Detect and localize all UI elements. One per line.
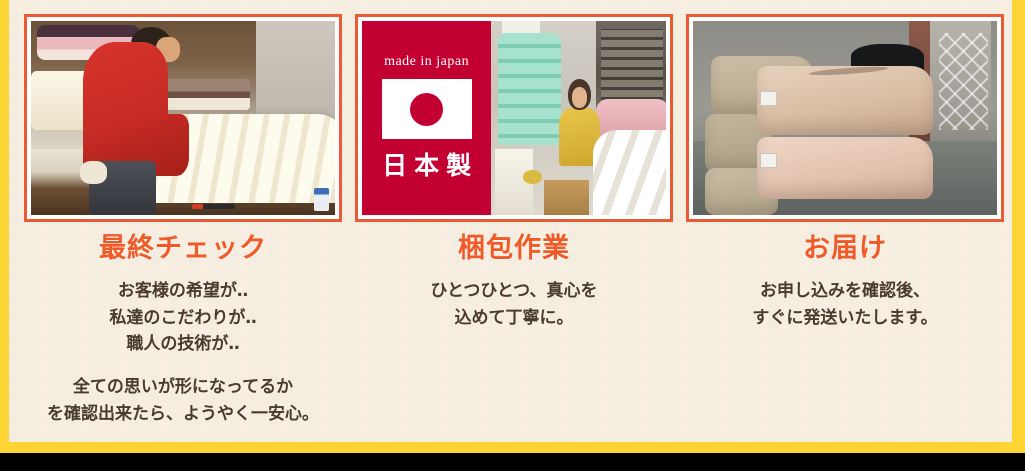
made-in-japan-badge: made in japan 日本製: [362, 21, 491, 215]
japan-flag-icon: [382, 79, 472, 139]
final-check-photo: [31, 21, 335, 215]
photo3-label-lower: [760, 153, 777, 169]
delivery-photo-frame: [686, 14, 1004, 222]
photo3-package-b: [757, 66, 933, 136]
delivery-photo: [693, 21, 997, 215]
photo3-package-c: [757, 137, 933, 199]
photo1-mid-pile: [165, 79, 250, 110]
packing-photo-frame: made in japan 日本製: [355, 14, 673, 222]
column-delivery: お届け お申し込みを確認後、 すぐに発送いたします。: [686, 232, 1004, 427]
body-final-check-2: 全ての思いが形になってるか を確認出来たら、ようやく一安心。: [24, 374, 342, 427]
photo2-white-futon: [593, 130, 666, 215]
page-root: made in japan 日本製: [0, 0, 1025, 471]
photo-row: made in japan 日本製: [24, 14, 1004, 222]
nihonsei-kanji-label: 日本製: [375, 146, 478, 182]
body-delivery: お申し込みを確認後、 すぐに発送いたします。: [686, 278, 1004, 331]
caption-row: 最終チェック お客様の希望が‥ 私達のこだわりが‥ 職人の技術が‥ 全ての思いが…: [24, 232, 1004, 427]
yellow-border-left: [0, 0, 9, 455]
column-final-check: 最終チェック お客様の希望が‥ 私達のこだわりが‥ 職人の技術が‥ 全ての思いが…: [24, 232, 342, 427]
photo2-rack-bars: [601, 29, 662, 110]
photo2-mint-futon-stack: [498, 33, 561, 146]
black-footer-bar: [0, 453, 1025, 471]
heading-final-check: 最終チェック: [24, 232, 342, 264]
photo3-label-upper: [760, 91, 777, 107]
photo1-bottle: [314, 188, 329, 211]
photo2-cardboard-box: [544, 180, 589, 215]
photo2-tape-roll: [523, 170, 542, 184]
yellow-border-bottom: [0, 442, 1025, 453]
photo3-grate: [939, 33, 988, 130]
body-packing: ひとつひとつ、真心を 込めて丁寧に。: [355, 278, 673, 331]
body-final-check: お客様の希望が‥ 私達のこだわりが‥ 職人の技術が‥: [24, 278, 342, 357]
content-panel: made in japan 日本製: [9, 0, 1012, 448]
photo1-pen: [192, 204, 235, 209]
made-in-japan-label: made in japan: [384, 54, 469, 70]
heading-packing: 梱包作業: [355, 232, 673, 264]
photo2-workshop-scene: [491, 21, 666, 215]
packing-photo: made in japan 日本製: [362, 21, 666, 215]
photo2-staff-face: [572, 87, 588, 108]
final-check-photo-frame: [24, 14, 342, 222]
column-packing: 梱包作業 ひとつひとつ、真心を 込めて丁寧に。: [355, 232, 673, 427]
photo1-glove: [80, 161, 107, 184]
yellow-border-right: [1012, 0, 1025, 455]
japan-flag-sun: [410, 93, 443, 126]
heading-delivery: お届け: [686, 232, 1004, 264]
